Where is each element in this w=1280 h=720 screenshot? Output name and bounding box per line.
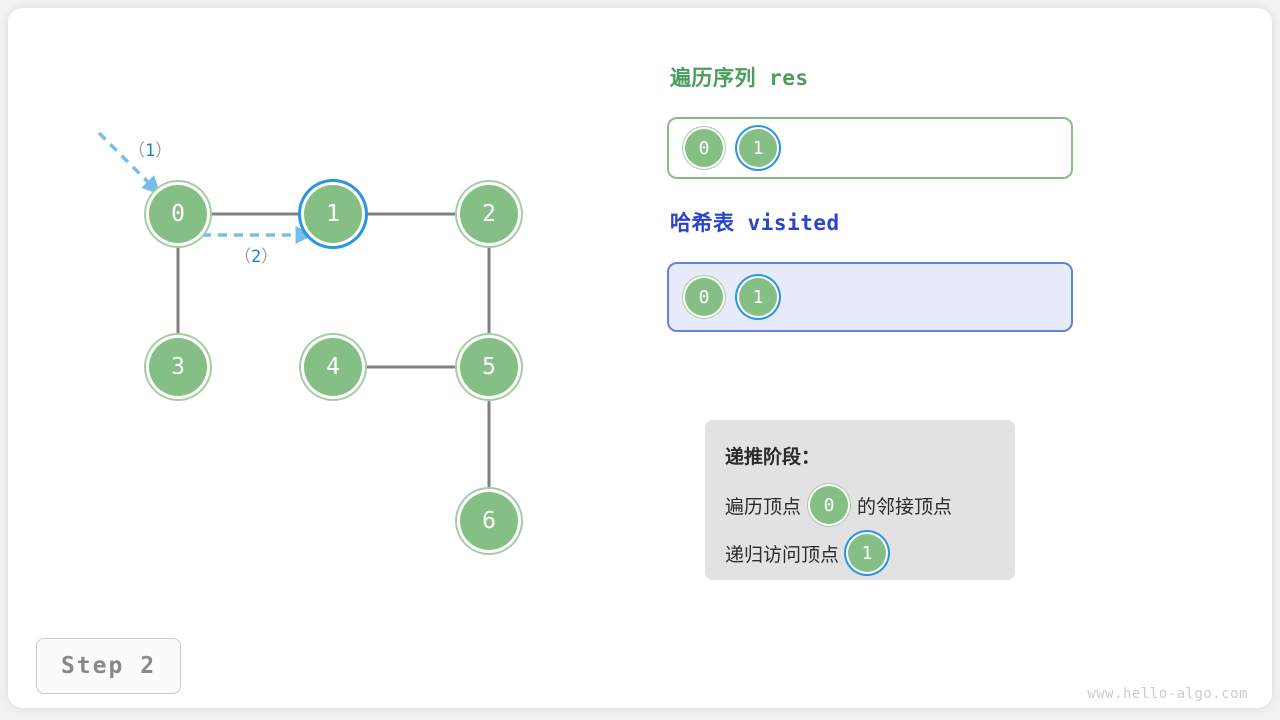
caption-line-1-suffix: 的邻接顶点 <box>857 492 952 519</box>
caption-line-2: 递归访问顶点 1 <box>725 534 1015 572</box>
visited-title: 哈希表 visited <box>670 207 840 237</box>
caption-node-0: 0 <box>810 486 848 524</box>
caption-box: 递推阶段： 遍历顶点 0 的邻接顶点 递归访问顶点 1 <box>705 420 1015 580</box>
caption-heading: 递推阶段： <box>725 442 1015 469</box>
res-box-cell-1: 1 <box>739 129 777 167</box>
step-badge: Step 2 <box>36 638 181 694</box>
visited-box-cell-1: 1 <box>739 278 777 316</box>
res-box-cell-0: 0 <box>685 129 723 167</box>
graph-node-3: 3 <box>149 338 207 396</box>
caption-line-2-prefix: 递归访问顶点 <box>725 540 839 567</box>
res-array-box: 01 <box>667 117 1073 179</box>
visited-hash-box: 01 <box>667 262 1073 332</box>
caption-line-1-prefix: 遍历顶点 <box>725 492 801 519</box>
res-title: 遍历序列 res <box>670 62 809 92</box>
annotation-step-1: （1） <box>128 136 172 161</box>
annotation-step-2: （2） <box>234 242 278 267</box>
watermark: www.hello-algo.com <box>1087 686 1248 702</box>
graph-node-6: 6 <box>460 492 518 550</box>
screenshot-root: 0123456 （1）（2） 遍历序列 res 01 哈希表 visited 0… <box>0 0 1280 720</box>
visited-box-cell-0: 0 <box>685 278 723 316</box>
caption-line-1: 遍历顶点 0 的邻接顶点 <box>725 486 1015 524</box>
graph-node-4: 4 <box>304 338 362 396</box>
graph-node-2: 2 <box>460 185 518 243</box>
caption-node-1: 1 <box>848 534 886 572</box>
graph-node-1: 1 <box>304 185 362 243</box>
graph-node-5: 5 <box>460 338 518 396</box>
graph-node-0: 0 <box>149 185 207 243</box>
